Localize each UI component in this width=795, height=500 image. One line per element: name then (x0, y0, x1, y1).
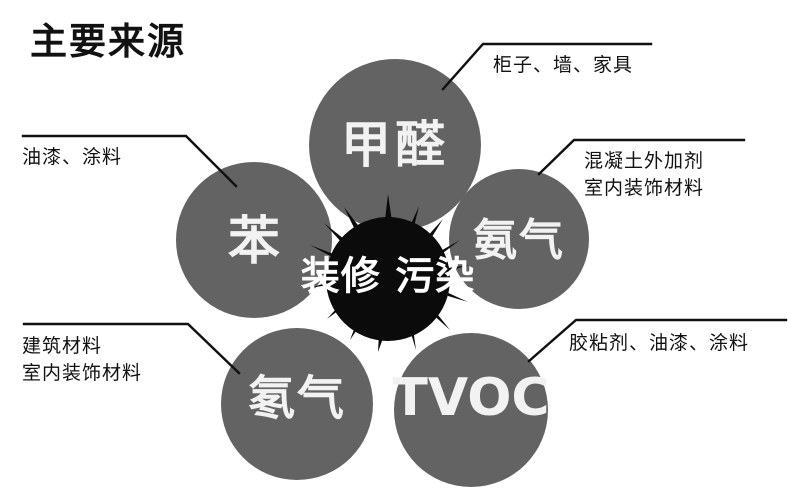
petal-circle-formaldehyde[interactable] (309, 59, 481, 231)
petal-circle-tvoc[interactable] (394, 333, 548, 487)
callout-line: 油漆、涂料 (22, 144, 122, 171)
center-starburst[interactable] (310, 194, 470, 352)
petal-circle-ammonia[interactable] (449, 169, 589, 309)
diagram-graphics (0, 0, 795, 500)
callout-ammonia-source: 混凝土外加剂 室内装饰材料 (584, 148, 704, 202)
callout-benzene-source: 油漆、涂料 (22, 144, 122, 171)
callout-line: 胶粘剂、油漆、涂料 (569, 330, 749, 357)
callout-line: 室内装饰材料 (584, 175, 704, 202)
callout-formaldehyde-source: 柜子、墙、家具 (493, 52, 633, 79)
callout-tvoc-source: 胶粘剂、油漆、涂料 (569, 330, 749, 357)
callout-line: 室内装饰材料 (22, 360, 142, 387)
petal-circle-benzene[interactable] (176, 162, 332, 318)
callout-line: 建筑材料 (22, 333, 142, 360)
callout-line: 混凝土外加剂 (584, 148, 704, 175)
diagram-canvas: 主要来源 甲醛 苯 氨气 氡气 TVOC 装修 污染 油漆、涂料 (0, 0, 795, 500)
callout-line: 柜子、墙、家具 (493, 52, 633, 79)
petal-circle-radon[interactable] (221, 328, 373, 480)
callout-radon-source: 建筑材料 室内装饰材料 (22, 333, 142, 387)
